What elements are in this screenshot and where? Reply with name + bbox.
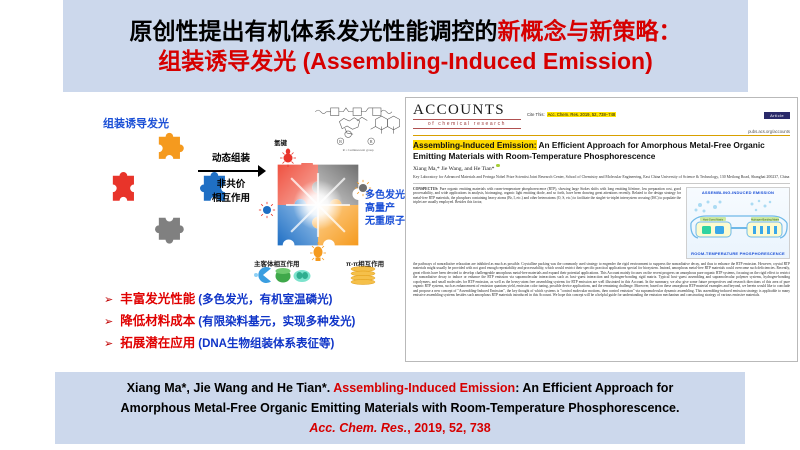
citation-title-part-1: : An Efficient Approach for	[515, 381, 673, 395]
citation-volume-page: , 2019, 52, 738	[407, 421, 490, 435]
title-line-2-cn: 组装诱导发光	[158, 48, 296, 74]
title-line-2: 组装诱导发光 (Assembling-Induced Emission)	[158, 46, 653, 76]
publisher-url[interactable]: pubs.acs.org/accounts	[712, 129, 790, 134]
arrow-label-noncovalent: 非共价	[200, 176, 262, 190]
journal-header-right: Article pubs.acs.org/accounts	[712, 103, 790, 134]
journal-name: ACCOUNTS	[413, 103, 521, 118]
toc-bottom-label: ROOM-TEMPERATURE PHOSPHORESCENCE	[687, 251, 789, 256]
title-line-1: 原创性提出有机体系发光性能调控的新概念与新策略：	[130, 16, 682, 46]
citation-banner: Xiang Ma*, Jie Wang and He Tian*. Assemb…	[55, 372, 745, 444]
journal-header: ACCOUNTS of chemical research Cite This:…	[413, 103, 790, 133]
chevron-right-icon: ➢	[104, 295, 113, 306]
toc-graphic: ASSEMBLING-INDUCED EMISSION Host-Gue	[686, 187, 790, 259]
puzzle-piece-red-dispersed	[97, 169, 145, 221]
list-item: ➢ 丰富发光性能 (多色发光，有机室温磷光)	[104, 288, 404, 307]
journal-citation-line: Cite This: Acc. Chem. Res. 2019, 52, 738…	[521, 103, 712, 117]
abstract-block: CONSPECTUS: Pure organic emitting materi…	[413, 187, 790, 259]
svg-text:R: R	[339, 139, 342, 144]
citation-line-3: Acc. Chem. Res., 2019, 52, 738	[309, 418, 490, 438]
bullet-blue-text: (有限染料基元，实现多种发光)	[198, 313, 355, 329]
svg-text:R: R	[370, 139, 373, 144]
label-hydrogen-bond: 氢键	[274, 137, 287, 147]
chevron-right-icon: ➢	[104, 339, 113, 350]
citation-journal: Acc. Chem. Res.	[309, 421, 407, 435]
toc-tag-left: Host-Guest Matrix	[703, 218, 724, 221]
journal-header-rule	[413, 135, 790, 136]
toc-top-label: ASSEMBLING-INDUCED EMISSION	[689, 190, 787, 195]
bullet-red-text: 丰富发光性能	[120, 288, 195, 307]
title-banner: 原创性提出有机体系发光性能调控的新概念与新策略： 组装诱导发光 (Assembl…	[63, 0, 748, 92]
citation-authors: Xiang Ma*, Jie Wang and He Tian*.	[127, 381, 334, 395]
paper-authors-text: Xiang Ma,* Jie Wang, and He Tian*	[413, 166, 494, 172]
toc-tag-right: Hydrogen-Bonding Matrix	[751, 218, 780, 221]
chemical-structure-sketch: R R R = Luminescent group	[314, 103, 402, 155]
journal-subtitle: of chemical research	[413, 119, 521, 129]
hydrogen-bond-icon	[278, 147, 298, 169]
highlights-list: ➢ 丰富发光性能 (多色发光，有机室温磷光) ➢ 降低材料成本 (有限染料基元，…	[104, 288, 404, 354]
title-line-1-red: 新概念与新策略：	[498, 18, 682, 44]
list-item: ➢ 降低材料成本 (有限染料基元，实现多种发光)	[104, 310, 404, 329]
host-guest-icon	[252, 265, 314, 285]
paper-title-highlight: Assembling-Induced Emission:	[413, 140, 537, 150]
journal-logo: ACCOUNTS of chemical research	[413, 103, 521, 129]
conspectus-label: CONSPECTUS:	[413, 187, 438, 191]
abstract-part-2: the pathways of nonradiative relaxation …	[413, 262, 790, 298]
citation-concept: Assembling-Induced Emission	[333, 381, 515, 395]
arrow-label-dynamic-assembly: 动态组装	[200, 150, 262, 164]
bullet-blue-text: (多色发光，有机室温磷光)	[198, 291, 332, 307]
citation-line-2: Amorphous Metal-Free Organic Emitting Ma…	[121, 398, 680, 418]
bullet-blue-text: (DNA生物组装体系表征等)	[198, 335, 334, 351]
list-item: ➢ 拓展潜在应用 (DNA生物组装体系表征等)	[104, 332, 404, 351]
chem-note-label: R = Luminescent group	[343, 148, 374, 152]
bullet-red-text: 拓展潜在应用	[120, 332, 195, 351]
article-type-badge: Article	[764, 112, 790, 119]
emitter-icon-blue	[258, 201, 276, 219]
abstract-text-column: CONSPECTUS: Pure organic emitting materi…	[413, 187, 681, 259]
orcid-icon	[496, 164, 499, 167]
assembled-puzzle	[276, 163, 360, 247]
paper-rule	[413, 183, 790, 184]
abstract-part-1: Pure organic emitting materials with roo…	[413, 187, 681, 205]
cite-this-value[interactable]: Acc. Chem. Res. 2019, 52, 738−748	[547, 112, 617, 117]
paper-authors: Xiang Ma,* Jie Wang, and He Tian*	[413, 164, 790, 172]
title-line-1-black: 原创性提出有机体系发光性能调控的	[130, 18, 498, 44]
toc-illustration: Host-Guest Matrix Hydrogen-Bonding Matri…	[689, 199, 789, 245]
citation-line-1: Xiang Ma*, Jie Wang and He Tian*. Assemb…	[127, 378, 674, 398]
paper-title: Assembling-Induced Emission: An Efficien…	[413, 140, 790, 161]
emitter-icon-orange	[308, 241, 328, 265]
pi-pi-stacking-icon	[346, 265, 380, 285]
cite-this-label: Cite This:	[527, 112, 545, 117]
puzzle-piece-gray-dispersed	[143, 211, 191, 259]
assembly-arrow-group: 动态组装 非共价 相互作用	[196, 150, 264, 212]
chevron-right-icon: ➢	[104, 317, 113, 328]
assembled-scheme: R R R = Luminescent group	[262, 101, 402, 281]
bullet-red-text: 降低材料成本	[120, 310, 195, 329]
title-line-2-en: (Assembling-Induced Emission)	[296, 48, 653, 74]
arrow-shaft	[198, 170, 260, 172]
paper-screenshot: ACCOUNTS of chemical research Cite This:…	[405, 97, 798, 362]
scheme-heading: 组装诱导发光	[103, 115, 169, 131]
arrow-label-interaction: 相互作用	[196, 190, 266, 204]
puzzle-piece-orange-dispersed	[143, 131, 191, 179]
paper-affiliation: Key Laboratory for Advanced Materials an…	[413, 175, 790, 180]
